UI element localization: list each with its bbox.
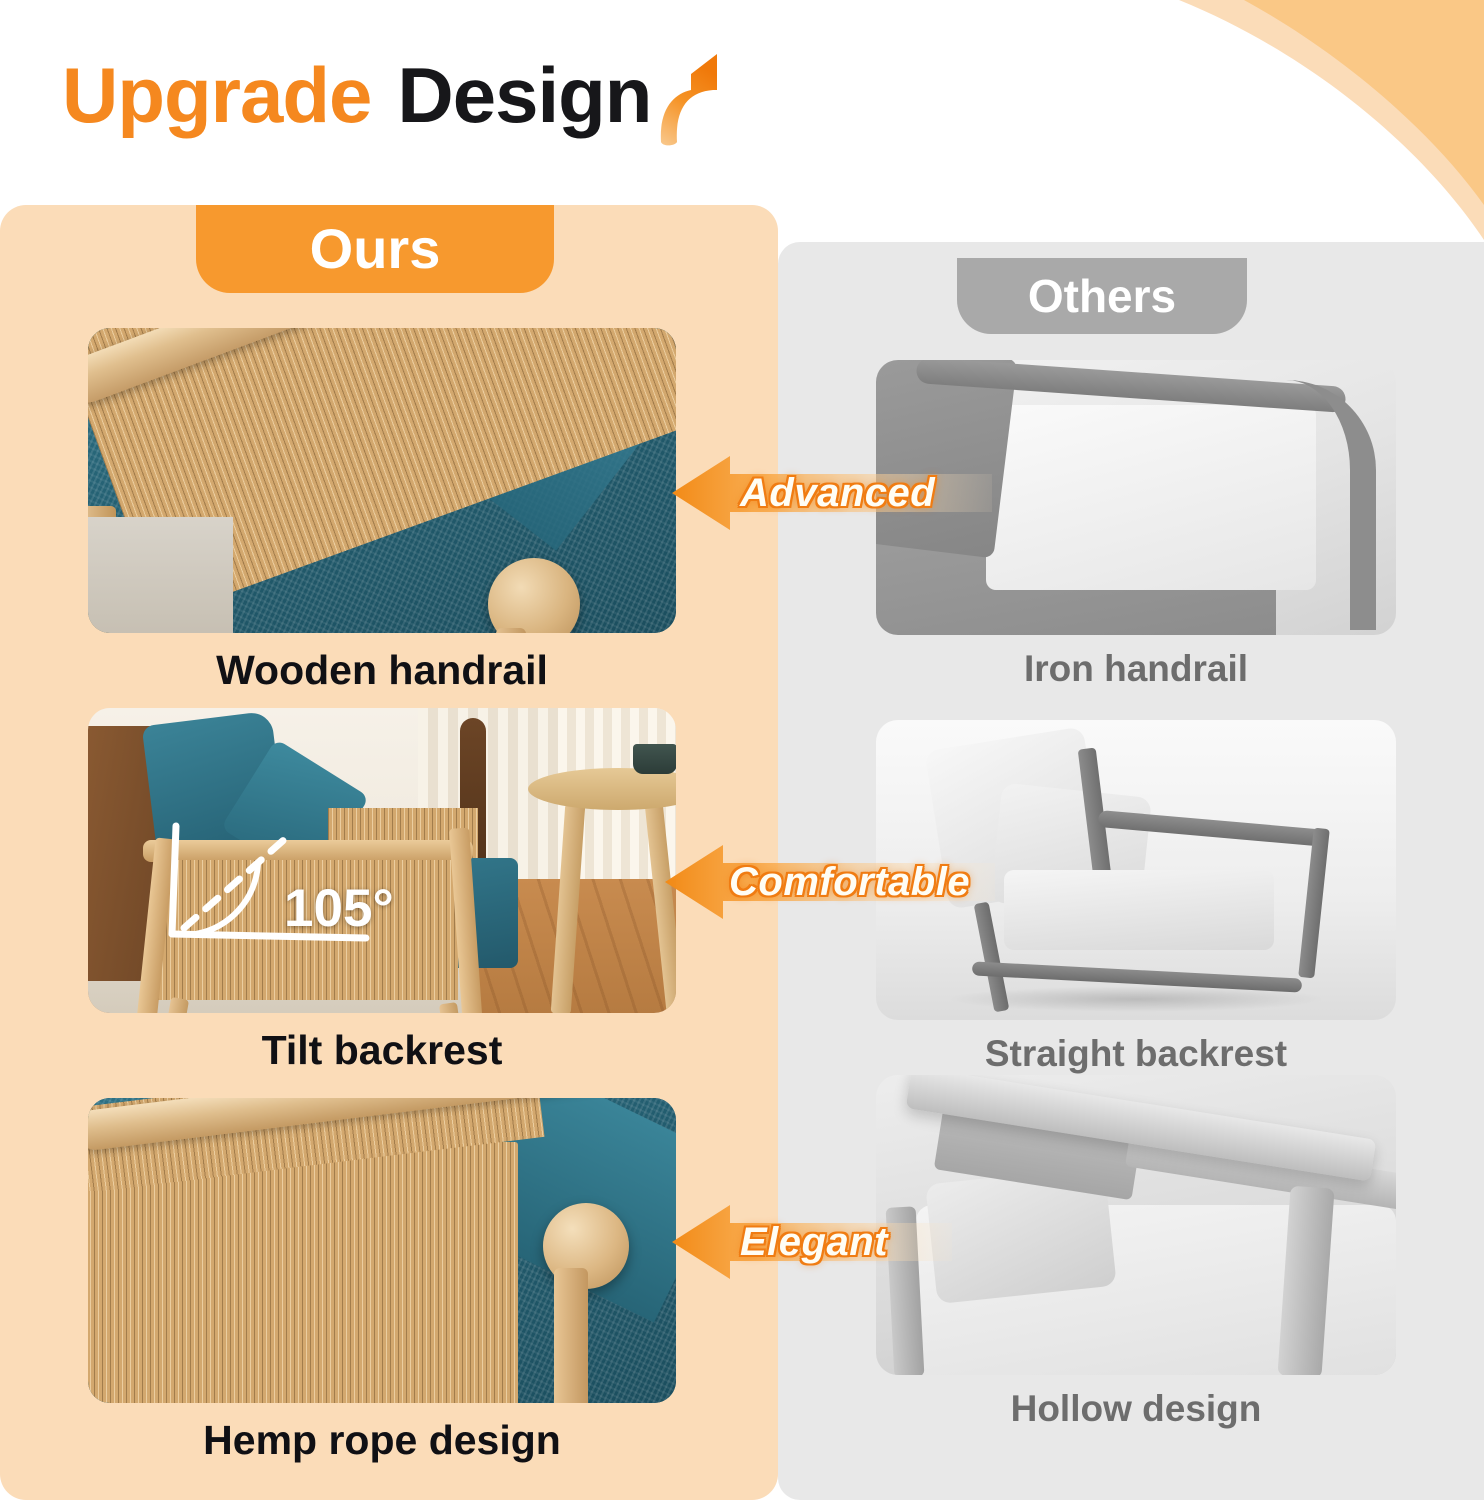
corner-swoosh-decoration bbox=[1124, 0, 1484, 240]
others-image-2 bbox=[876, 720, 1396, 1020]
ours-caption-3: Hemp rope design bbox=[88, 1418, 676, 1463]
ours-image-2: 105° bbox=[88, 708, 676, 1013]
ours-item-1: Wooden handrail bbox=[88, 328, 676, 693]
ours-item-3: Hemp rope design bbox=[88, 1098, 676, 1463]
badge-others: Others bbox=[957, 258, 1247, 334]
ours-image-3 bbox=[88, 1098, 676, 1403]
others-caption-3: Hollow design bbox=[876, 1389, 1396, 1430]
others-image-1 bbox=[876, 360, 1396, 635]
ours-item-2: 105° Tilt backrest bbox=[88, 708, 676, 1073]
ours-image-1 bbox=[88, 328, 676, 633]
badge-ours-label: Ours bbox=[310, 221, 441, 277]
others-image-3 bbox=[876, 1075, 1396, 1375]
others-item-2: Straight backrest bbox=[876, 720, 1396, 1075]
ours-caption-1: Wooden handrail bbox=[88, 648, 676, 693]
page-title: Upgrade Design bbox=[62, 52, 729, 134]
badge-others-label: Others bbox=[1028, 273, 1176, 319]
title-word-upgrade: Upgrade bbox=[62, 56, 371, 134]
title-word-design: Design bbox=[397, 56, 651, 134]
ours-caption-2: Tilt backrest bbox=[88, 1028, 676, 1073]
badge-ours: Ours bbox=[196, 205, 554, 293]
others-caption-2: Straight backrest bbox=[876, 1034, 1396, 1075]
others-caption-1: Iron handrail bbox=[876, 649, 1396, 690]
curved-up-arrow-icon bbox=[655, 52, 729, 148]
others-item-3: Hollow design bbox=[876, 1075, 1396, 1430]
others-item-1: Iron handrail bbox=[876, 360, 1396, 690]
